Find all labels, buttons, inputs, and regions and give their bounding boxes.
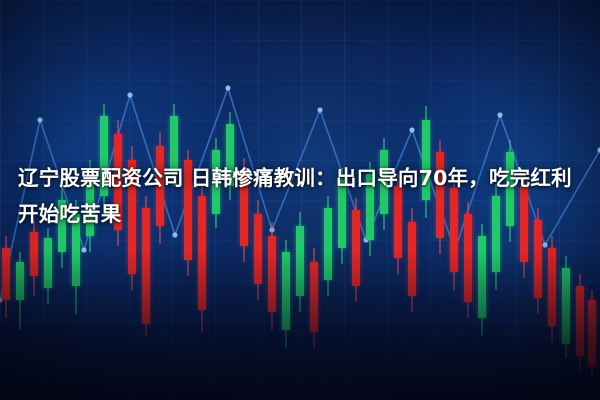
banner-image: 辽宁股票配资公司 日韩惨痛教训：出口导向70年，吃完红利开始吃苦果 bbox=[0, 0, 600, 400]
headline-text: 辽宁股票配资公司 日韩惨痛教训：出口导向70年，吃完红利开始吃苦果 bbox=[18, 160, 584, 232]
